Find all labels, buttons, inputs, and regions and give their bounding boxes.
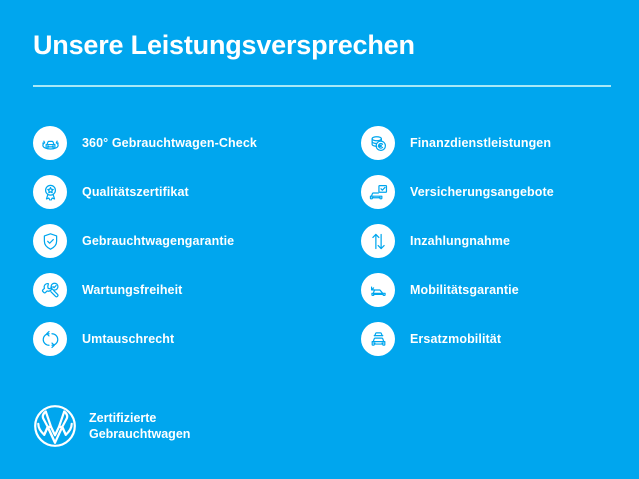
- list-item-label: Versicherungsangebote: [410, 185, 554, 199]
- list-item[interactable]: Finanzdienstleistungen: [361, 126, 631, 160]
- arrows-up-down-icon: [361, 224, 395, 258]
- list-item-label: Qualitätszertifikat: [82, 185, 189, 199]
- list-item-label: Ersatzmobilität: [410, 332, 501, 346]
- list-item[interactable]: Wartungsfreiheit: [33, 273, 333, 307]
- title-divider: [33, 85, 611, 87]
- tow-car-icon: [361, 273, 395, 307]
- list-item[interactable]: Umtauschrecht: [33, 322, 333, 356]
- list-item[interactable]: Gebrauchtwagengarantie: [33, 224, 333, 258]
- list-item[interactable]: Versicherungsangebote: [361, 175, 631, 209]
- promise-panel: Unsere Leistungsversprechen 360° Gebrauc…: [0, 0, 639, 479]
- page-title: Unsere Leistungsversprechen: [33, 30, 415, 61]
- volkswagen-logo: [33, 404, 77, 448]
- footer-text: Zertifizierte Gebrauchtwagen: [89, 410, 190, 442]
- list-item-label: 360° Gebrauchtwagen-Check: [82, 136, 257, 150]
- list-item-label: Inzahlungnahme: [410, 234, 510, 248]
- list-item[interactable]: Mobilitätsgarantie: [361, 273, 631, 307]
- coins-euro-icon: [361, 126, 395, 160]
- list-item[interactable]: Inzahlungnahme: [361, 224, 631, 258]
- promise-list-right: Finanzdienstleistungen Versicherungsange…: [361, 126, 631, 371]
- promise-list-left: 360° Gebrauchtwagen-Check Qualitätszerti…: [33, 126, 333, 371]
- list-item-label: Finanzdienstleistungen: [410, 136, 551, 150]
- footer-line-1: Zertifizierte: [89, 410, 190, 426]
- footer-line-2: Gebrauchtwagen: [89, 426, 190, 442]
- shield-check-icon: [33, 224, 67, 258]
- wrench-check-icon: [33, 273, 67, 307]
- two-cars-icon: [361, 322, 395, 356]
- car-document-check-icon: [361, 175, 395, 209]
- list-item[interactable]: Ersatzmobilität: [361, 322, 631, 356]
- award-rosette-icon: [33, 175, 67, 209]
- list-item[interactable]: 360° Gebrauchtwagen-Check: [33, 126, 333, 160]
- footer-brand: Zertifizierte Gebrauchtwagen: [33, 404, 190, 448]
- list-item-label: Mobilitätsgarantie: [410, 283, 519, 297]
- list-item-label: Umtauschrecht: [82, 332, 174, 346]
- list-item-label: Wartungsfreiheit: [82, 283, 182, 297]
- car-360-check-icon: [33, 126, 67, 160]
- list-item[interactable]: Qualitätszertifikat: [33, 175, 333, 209]
- list-item-label: Gebrauchtwagengarantie: [82, 234, 234, 248]
- exchange-arrows-icon: [33, 322, 67, 356]
